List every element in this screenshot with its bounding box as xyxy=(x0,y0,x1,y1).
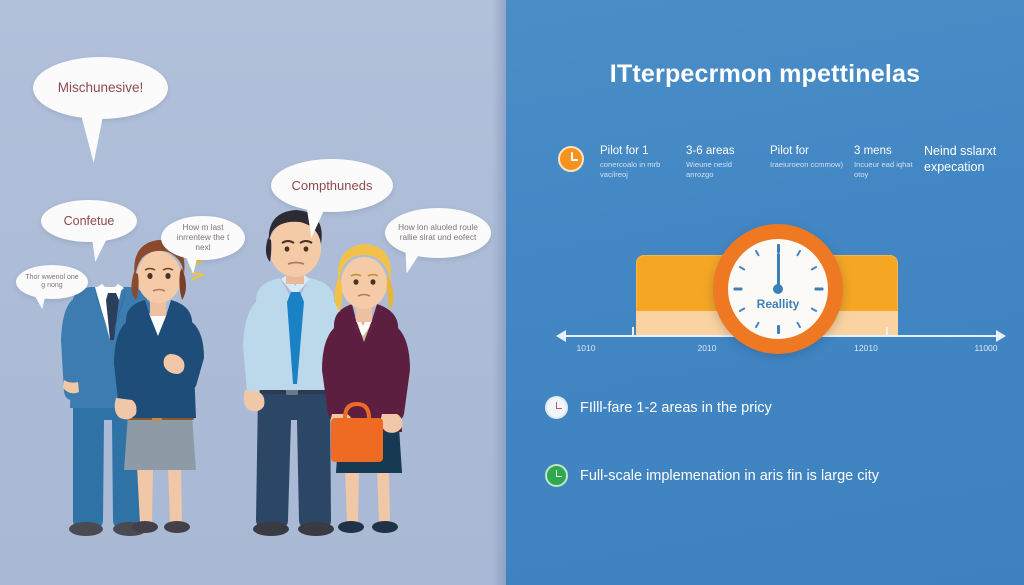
bubble-tail xyxy=(303,207,324,239)
axis-tick-label: 11000 xyxy=(974,343,997,353)
milestone-sub: Incueur ead iqhat otoy xyxy=(854,160,924,180)
milestone-sub: Wieune nesld anrozgo xyxy=(686,160,758,180)
milestone-heading: Neind sslarxt expecation xyxy=(924,144,1020,175)
bubble-tail xyxy=(186,255,200,274)
infographic-canvas: Mischunesive! Compthuneds Confetue How m… xyxy=(0,0,1024,585)
axis-tick-label: 2010 xyxy=(698,343,717,353)
bullet-text: Full-scale implemenation in aris fin is … xyxy=(580,468,879,484)
speech-bubble-text: Confetue xyxy=(64,214,115,229)
bubble-tail xyxy=(35,294,48,310)
clock-face: Reallity xyxy=(728,239,828,339)
axis-tick xyxy=(632,327,634,337)
milestone-heading: Pilot for 1 xyxy=(600,144,678,158)
speech-bubble-how-m-last: How m last inrrentew the t nexl xyxy=(161,216,245,260)
bullet-item-pilot: FIlll-fare 1-2 areas in the pricy xyxy=(545,396,772,419)
milestone-sub: conercoalo in mrb vacilreoj xyxy=(600,160,678,180)
axis-tick xyxy=(886,327,888,337)
clock-tick xyxy=(755,250,760,257)
milestone-heading: 3-6 areas xyxy=(686,144,758,158)
clock-icon xyxy=(545,396,568,419)
speech-bubble-compthuneds: Compthuneds xyxy=(271,159,393,212)
milestone-item: Neind sslarxt expecation xyxy=(924,144,1020,177)
clock-label: Reallity xyxy=(728,297,828,311)
axis-arrow-left-icon xyxy=(556,330,566,342)
clock-tick xyxy=(755,321,760,328)
clock-tick xyxy=(739,266,746,271)
reality-clock: Reallity xyxy=(713,224,843,354)
clock-tick xyxy=(777,325,780,334)
bullet-text: FIlll-fare 1-2 areas in the pricy xyxy=(580,400,772,416)
speech-bubble-confetue: Confetue xyxy=(41,200,137,242)
milestone-heading: Pilot for xyxy=(770,144,848,158)
clock-tick xyxy=(777,244,780,253)
milestone-sub: Iraeiuroeon ccmmow) xyxy=(770,160,848,170)
speech-bubble-text: How lon aluoled roule rallie slrat und e… xyxy=(393,223,483,243)
left-panel: Mischunesive! Compthuneds Confetue How m… xyxy=(0,0,506,585)
milestone-item: 3 mens Incueur ead iqhat otoy xyxy=(854,144,924,180)
clock-icon xyxy=(558,146,584,172)
speech-bubble-mischunesive: Mischunesive! xyxy=(33,57,168,119)
clock-tick xyxy=(814,288,823,291)
clock-pivot xyxy=(773,284,783,294)
clock-tick xyxy=(796,321,801,328)
milestone-row: Pilot for 1 conercoalo in mrb vacilreoj … xyxy=(546,144,1006,204)
milestone-item: Pilot for Iraeiuroeon ccmmow) xyxy=(770,144,848,170)
speech-bubble-text: Mischunesive! xyxy=(58,80,144,96)
clock-tick xyxy=(796,250,801,257)
clock-tick xyxy=(733,288,742,291)
axis-tick-label: 12010 xyxy=(854,343,878,353)
speech-bubble-text: How m last inrrentew the t nexl xyxy=(169,223,237,252)
milestone-heading: 3 mens xyxy=(854,144,924,158)
clock-tick xyxy=(810,266,817,271)
page-title: ITterpecrmon mpettinelas xyxy=(506,60,1024,89)
globe-icon xyxy=(545,464,568,487)
milestone-item: Pilot for 1 conercoalo in mrb vacilreoj xyxy=(600,144,678,180)
speech-bubble-tiny: Thor wwenol one g nong xyxy=(16,265,88,299)
speech-bubble-text: Compthuneds xyxy=(292,178,373,193)
milestone-item: 3-6 areas Wieune nesld anrozgo xyxy=(686,144,758,180)
axis-tick-label: 1010 xyxy=(577,343,596,353)
bubble-tail xyxy=(81,114,106,163)
figure-woman-blonde xyxy=(322,244,410,533)
speech-bubble-text: Thor wwenol one g nong xyxy=(24,274,80,291)
axis-arrow-right-icon xyxy=(996,330,1006,342)
speech-bubble-how-lon: How lon aluoled roule rallie slrat und e… xyxy=(385,208,491,258)
bullet-item-full-scale: Full-scale implemenation in aris fin is … xyxy=(545,464,879,487)
